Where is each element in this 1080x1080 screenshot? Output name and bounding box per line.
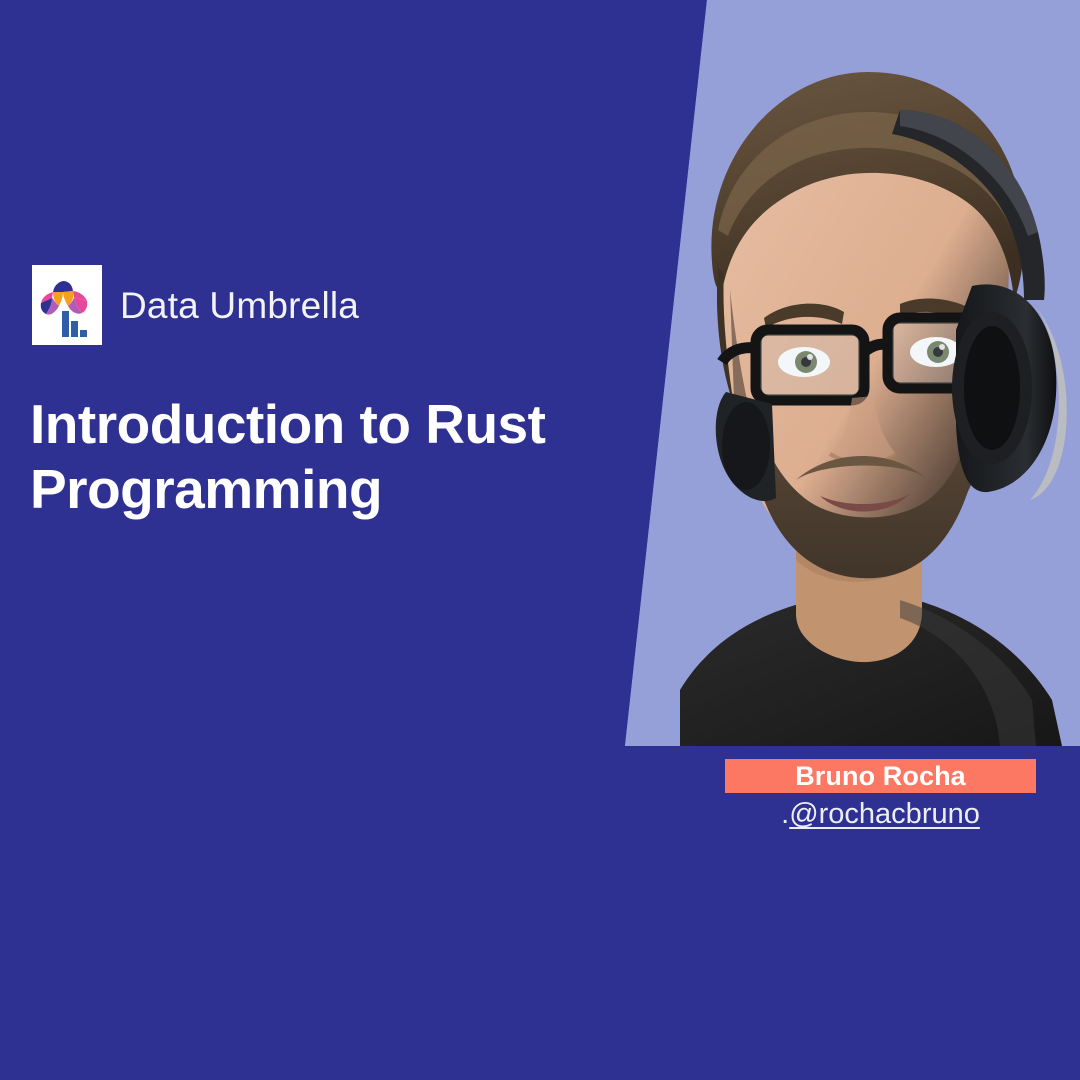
- brand-name: Data Umbrella: [120, 287, 359, 324]
- data-umbrella-logo-icon: [32, 265, 102, 345]
- brand-lockup: Data Umbrella: [32, 265, 359, 345]
- page-title-line-1: Introduction to Rust: [30, 392, 590, 457]
- handle-prefix-dot: .: [781, 798, 789, 830]
- speaker-name-banner: Bruno Rocha: [725, 759, 1036, 793]
- page-title-line-2: Programming: [30, 457, 590, 522]
- speaker-handle[interactable]: .@rochacbruno: [725, 800, 1036, 829]
- speaker-handle-text[interactable]: @rochacbruno: [789, 798, 980, 830]
- speaker-portrait-image: [600, 0, 1080, 746]
- presentation-slide: Data Umbrella Introduction to Rust Progr…: [0, 0, 1080, 1080]
- speaker-photo-panel: [600, 0, 1080, 746]
- page-title: Introduction to Rust Programming: [30, 392, 590, 522]
- speaker-name: Bruno Rocha: [795, 763, 966, 790]
